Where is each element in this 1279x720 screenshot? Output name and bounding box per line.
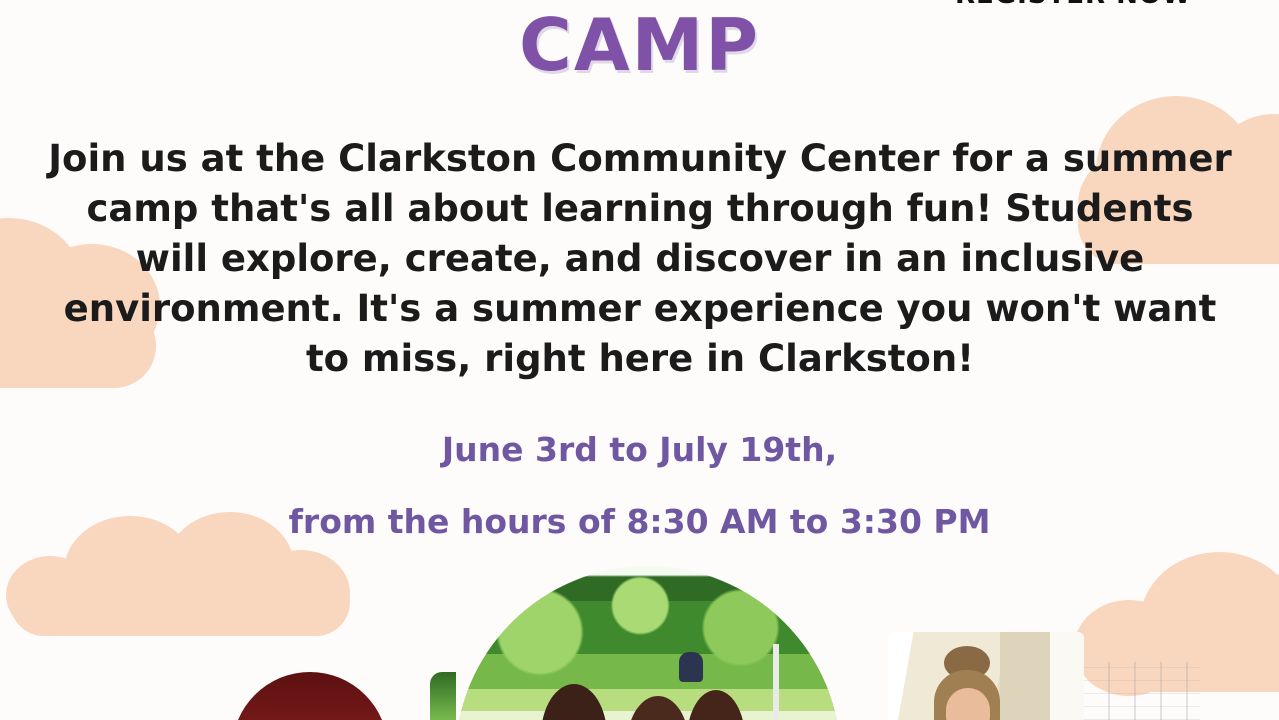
children-outdoors-photo <box>455 566 841 720</box>
photo-pole-detail <box>773 644 779 720</box>
faint-grid-lines-decoration <box>1082 662 1200 720</box>
green-sliver-decoration <box>430 672 456 720</box>
cloud-base <box>10 568 350 636</box>
photo-child-head <box>541 684 607 720</box>
title-line-camp: CAMP <box>0 8 1279 82</box>
clipped-top-right-text: REGISTER NOW <box>955 0 1192 10</box>
maroon-arch-shape <box>232 672 388 720</box>
schedule-dates: June 3rd to July 19th, <box>0 414 1279 486</box>
summer-camp-flyer: REGISTER NOW SUMMER CAMP Join us at the … <box>0 0 1279 720</box>
instructor-indoors-photo <box>888 632 1084 720</box>
photo-child-head <box>627 696 689 720</box>
schedule-block: June 3rd to July 19th, from the hours of… <box>0 414 1279 558</box>
photo-child-hat <box>679 652 703 682</box>
flyer-title: SUMMER CAMP <box>0 0 1279 82</box>
photo-child-head <box>687 690 745 720</box>
schedule-hours: from the hours of 8:30 AM to 3:30 PM <box>0 486 1279 558</box>
photo-wall-panel <box>1000 632 1050 720</box>
flyer-description: Join us at the Clarkston Community Cente… <box>44 134 1236 384</box>
